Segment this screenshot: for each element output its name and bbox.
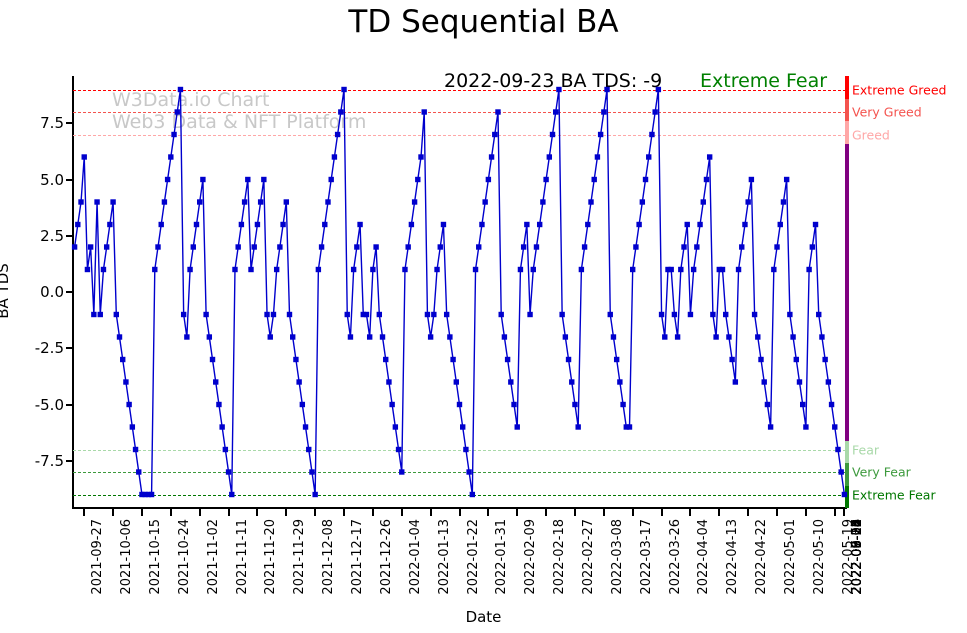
tds-marker [489,154,494,159]
tds-marker [511,402,516,407]
tds-marker [726,334,731,339]
tds-marker [826,379,831,384]
tds-marker [569,379,574,384]
tds-marker [790,334,795,339]
tds-marker [774,244,779,249]
tds-marker [515,424,520,429]
tds-marker [710,312,715,317]
tds-marker [502,334,507,339]
tds-marker [88,244,93,249]
tds-marker [787,312,792,317]
tds-marker [271,312,276,317]
tds-marker [316,267,321,272]
tds-marker [806,267,811,272]
tds-marker [325,199,330,204]
tds-marker [595,154,600,159]
tds-marker [114,312,119,317]
tds-marker [758,357,763,362]
tds-marker [681,244,686,249]
tds-marker [608,312,613,317]
tds-marker [284,199,289,204]
tds-marker [495,109,500,114]
tds-marker [444,312,449,317]
tds-marker [470,492,475,497]
tds-marker [418,154,423,159]
tds-marker [704,177,709,182]
tds-marker [107,222,112,227]
tds-marker [810,244,815,249]
tds-marker [627,424,632,429]
tds-marker [434,267,439,272]
tds-marker [235,244,240,249]
tds-marker [694,244,699,249]
tds-marker [672,312,677,317]
tds-marker [691,267,696,272]
tds-marker [178,87,183,92]
tds-marker [354,244,359,249]
tds-marker [697,222,702,227]
tds-marker [482,199,487,204]
tds-marker [117,334,122,339]
tds-marker [656,87,661,92]
tds-marker [524,222,529,227]
tds-marker [784,177,789,182]
tds-marker [643,177,648,182]
tds-marker [492,132,497,137]
tds-marker [399,469,404,474]
tds-marker [415,177,420,182]
tds-marker [662,334,667,339]
chart-root: TD Sequential BA W3Data.io Chart Web3 Da… [0,0,967,633]
tds-marker [367,334,372,339]
tds-marker [630,267,635,272]
tds-marker [778,222,783,227]
tds-marker [277,244,282,249]
tds-marker [842,492,847,497]
tds-marker [559,312,564,317]
tds-marker [431,312,436,317]
tds-marker [309,469,314,474]
tds-marker [668,267,673,272]
tds-marker [543,177,548,182]
tds-marker [486,177,491,182]
tds-marker [184,334,189,339]
tds-marker [409,222,414,227]
tds-marker [168,154,173,159]
tds-marker [303,424,308,429]
tds-marker [582,244,587,249]
tds-marker [473,267,478,272]
tds-marker [329,177,334,182]
tds-marker [765,402,770,407]
tds-marker [203,312,208,317]
tds-marker [505,357,510,362]
tds-marker [633,244,638,249]
tds-marker [380,334,385,339]
tds-marker [229,492,234,497]
tds-marker [258,199,263,204]
tds-marker [351,267,356,272]
tds-marker [245,177,250,182]
tds-marker [335,132,340,137]
tds-marker [274,267,279,272]
tds-marker [838,469,843,474]
tds-marker [402,267,407,272]
tds-marker [441,222,446,227]
tds-marker [78,199,83,204]
tds-marker [713,334,718,339]
tds-marker [563,334,568,339]
tds-marker [617,379,622,384]
tds-marker [290,334,295,339]
tds-marker [598,132,603,137]
tds-marker [422,109,427,114]
tds-marker [389,402,394,407]
tds-marker [226,469,231,474]
tds-marker [723,312,728,317]
tds-marker [768,424,773,429]
tds-marker [781,199,786,204]
tds-marker [688,312,693,317]
tds-marker [803,424,808,429]
tds-marker [223,447,228,452]
tds-marker [620,402,625,407]
tds-marker [550,132,555,137]
tds-marker [91,312,96,317]
tds-marker [547,154,552,159]
tds-marker [287,312,292,317]
tds-marker [588,199,593,204]
tds-marker [466,469,471,474]
tds-marker [338,109,343,114]
tds-marker [611,334,616,339]
tds-marker [463,447,468,452]
tds-marker [123,379,128,384]
tds-marker [94,199,99,204]
tds-marker [579,267,584,272]
tds-marker [822,357,827,362]
tds-marker [816,312,821,317]
tds-marker [171,132,176,137]
tds-marker [720,267,725,272]
series-layer [0,0,967,633]
tds-marker [553,109,558,114]
tds-marker [162,199,167,204]
tds-marker [300,402,305,407]
tds-marker [110,199,115,204]
tds-marker [566,357,571,362]
tds-marker [293,357,298,362]
tds-marker [534,244,539,249]
tds-marker [268,334,273,339]
tds-marker [646,154,651,159]
tds-marker [165,177,170,182]
tds-marker [499,312,504,317]
tds-marker [242,199,247,204]
tds-marker [377,312,382,317]
tds-marker [601,109,606,114]
tds-marker [85,267,90,272]
tds-marker [82,154,87,159]
tds-marker [556,87,561,92]
tds-marker [312,492,317,497]
tds-marker [239,222,244,227]
tds-marker [98,312,103,317]
tds-marker [357,222,362,227]
tds-marker [405,244,410,249]
tds-marker [373,244,378,249]
tds-marker [252,244,257,249]
tds-marker [832,424,837,429]
tds-marker [194,222,199,227]
tds-marker [540,199,545,204]
tds-marker [152,267,157,272]
tds-marker [428,334,433,339]
tds-marker [685,222,690,227]
tds-marker [521,244,526,249]
tds-line [75,90,845,495]
tds-marker [75,222,80,227]
tds-marker [319,244,324,249]
tds-marker [438,244,443,249]
tds-marker [393,424,398,429]
tds-marker [364,312,369,317]
tds-marker [749,177,754,182]
tds-marker [175,109,180,114]
tds-marker [742,222,747,227]
tds-marker [159,222,164,227]
tds-marker [412,199,417,204]
tds-marker [264,312,269,317]
tds-marker [155,244,160,249]
tds-marker [479,222,484,227]
tds-marker [508,379,513,384]
tds-marker [736,267,741,272]
tds-marker [207,334,212,339]
tds-marker [396,447,401,452]
tds-marker [649,132,654,137]
tds-marker [829,402,834,407]
tds-marker [322,222,327,227]
tds-marker [149,492,154,497]
tds-marker [425,312,430,317]
tds-marker [187,267,192,272]
tds-marker [460,424,465,429]
tds-marker [527,312,532,317]
tds-marker [518,267,523,272]
tds-marker [120,357,125,362]
tds-marker [232,267,237,272]
tds-marker [197,199,202,204]
tds-marker [306,447,311,452]
tds-marker [739,244,744,249]
tds-marker [213,379,218,384]
tds-marker [216,402,221,407]
tds-marker [72,244,77,249]
tds-marker [280,222,285,227]
tds-marker [794,357,799,362]
tds-marker [261,177,266,182]
tds-marker [345,312,350,317]
tds-marker [450,357,455,362]
tds-marker [210,357,215,362]
tds-marker [191,244,196,249]
tds-marker [659,312,664,317]
tds-marker [457,402,462,407]
tds-marker [383,357,388,362]
tds-marker [592,177,597,182]
tds-marker [675,334,680,339]
tds-marker [447,334,452,339]
tds-marker [800,402,805,407]
tds-marker [755,334,760,339]
tds-marker [101,267,106,272]
tds-marker [752,312,757,317]
tds-marker [104,244,109,249]
tds-marker [136,469,141,474]
tds-marker [386,379,391,384]
tds-marker [797,379,802,384]
tds-marker [729,357,734,362]
tds-marker [762,379,767,384]
tds-marker [819,334,824,339]
tds-marker [707,154,712,159]
tds-marker [126,402,131,407]
tds-marker [733,379,738,384]
tds-marker [341,87,346,92]
tds-marker [348,334,353,339]
tds-marker [572,402,577,407]
tds-marker [813,222,818,227]
tds-marker [745,199,750,204]
tds-marker [476,244,481,249]
tds-marker [585,222,590,227]
tds-marker [701,199,706,204]
tds-marker [575,424,580,429]
tds-marker [454,379,459,384]
tds-marker [296,379,301,384]
tds-marker [771,267,776,272]
tds-marker [531,267,536,272]
tds-marker [640,199,645,204]
tds-marker [652,109,657,114]
tds-marker [614,357,619,362]
tds-marker [219,424,224,429]
tds-marker [678,267,683,272]
tds-marker [200,177,205,182]
tds-marker [636,222,641,227]
tds-marker [370,267,375,272]
tds-marker [133,447,138,452]
tds-marker [248,267,253,272]
tds-marker [332,154,337,159]
tds-marker [181,312,186,317]
tds-marker [255,222,260,227]
tds-marker [604,87,609,92]
tds-marker [130,424,135,429]
tds-marker [537,222,542,227]
tds-marker [835,447,840,452]
